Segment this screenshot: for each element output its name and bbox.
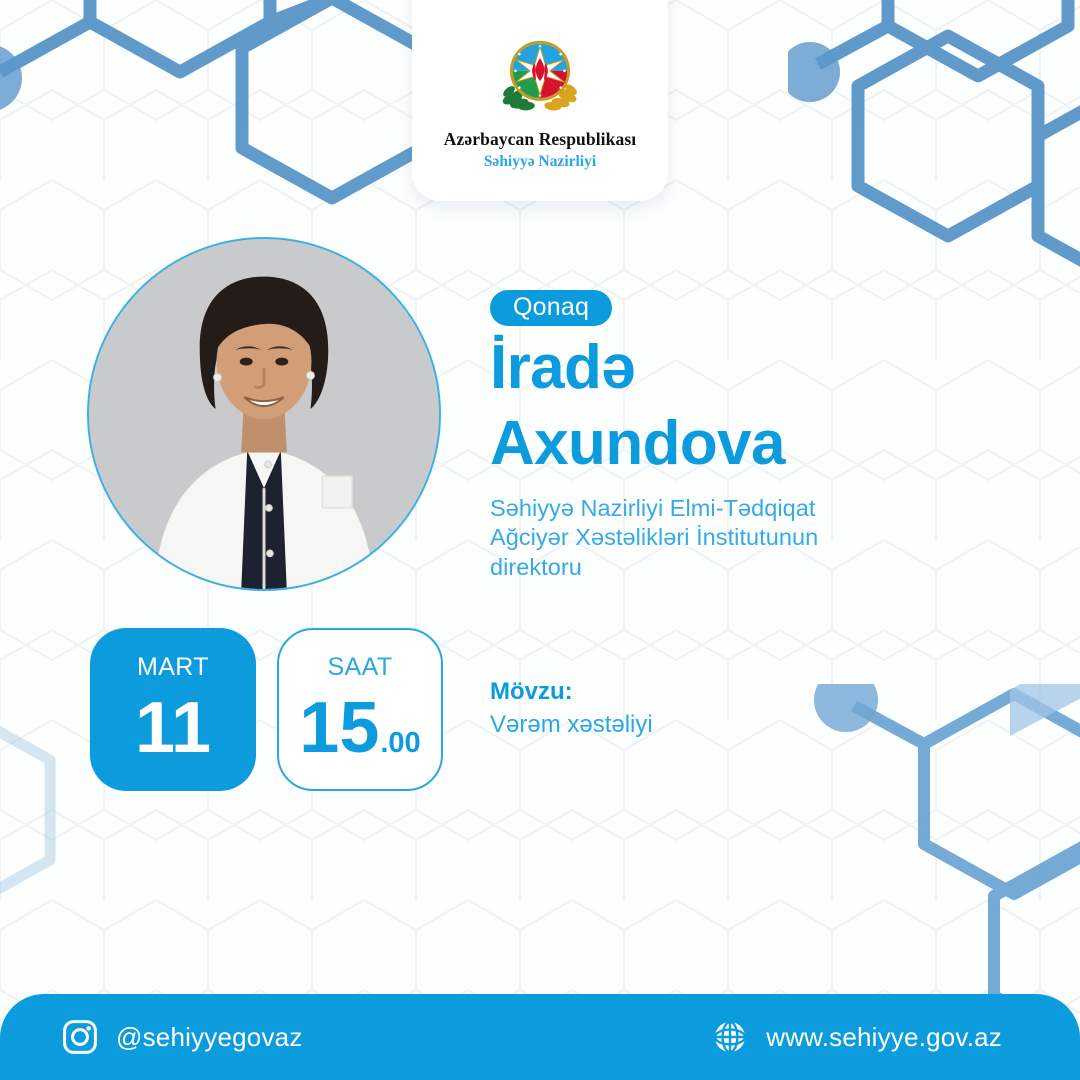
time-card-value: 15 .00 [299, 692, 420, 764]
speaker-title-line-2: Ağciyər Xəstəlikləri İnstitutunun [490, 523, 920, 553]
schedule-cards: MART 11 SAAT 15 .00 [90, 628, 443, 791]
topic-label: Mövzu: [490, 676, 653, 707]
decor-hexagons-top-right [788, 0, 1080, 316]
speaker-first-name: İradə [490, 330, 920, 406]
azerbaijan-coat-of-arms-icon [497, 33, 583, 119]
date-card-label: MART [137, 655, 209, 680]
globe-icon [712, 1019, 748, 1055]
decor-hexagons-top-left [0, 0, 440, 242]
time-card: SAAT 15 .00 [277, 628, 443, 791]
speaker-title: Səhiyyə Nazirliyi Elmi-Tədqiqat Ağciyər … [490, 494, 920, 584]
speaker-title-line-1: Səhiyyə Nazirliyi Elmi-Tədqiqat [490, 494, 920, 524]
speaker-name: İradə Axundova [490, 330, 920, 481]
decor-hexagons-bottom-right [814, 684, 1080, 994]
website-url: www.sehiyye.gov.az [766, 1022, 1002, 1053]
logo-line-2: Səhiyyə Nazirliyi [484, 153, 596, 171]
speaker-last-name: Axundova [490, 406, 920, 482]
time-card-hours: 15 [299, 692, 379, 764]
topic-value: Vərəm xəstəliyi [490, 709, 653, 741]
footer-instagram[interactable]: @sehiyyegovaz [62, 1019, 303, 1055]
time-card-minutes: .00 [380, 729, 420, 758]
speaker-portrait [87, 237, 441, 591]
time-card-label: SAAT [327, 655, 392, 680]
ministry-logo-card: Azərbaycan Respublikası Səhiyyə Nazirliy… [412, 0, 668, 201]
logo-line-1: Azərbaycan Respublikası [444, 129, 636, 150]
instagram-handle: @sehiyyegovaz [116, 1022, 303, 1053]
date-card: MART 11 [90, 628, 256, 791]
speaker-info: Qonaq İradə Axundova Səhiyyə Nazirliyi E… [490, 290, 920, 583]
instagram-icon [62, 1019, 98, 1055]
footer-website[interactable]: www.sehiyye.gov.az [712, 1019, 1002, 1055]
guest-badge: Qonaq [490, 290, 612, 326]
date-card-value: 11 [135, 692, 211, 764]
topic-block: Mövzu: Vərəm xəstəliyi [490, 676, 653, 742]
footer-bar: @sehiyyegovaz www.sehiyye.gov.az [0, 994, 1080, 1080]
speaker-title-line-3: direktoru [490, 553, 920, 583]
poster-canvas: Azərbaycan Respublikası Səhiyyə Nazirliy… [0, 0, 1080, 1080]
